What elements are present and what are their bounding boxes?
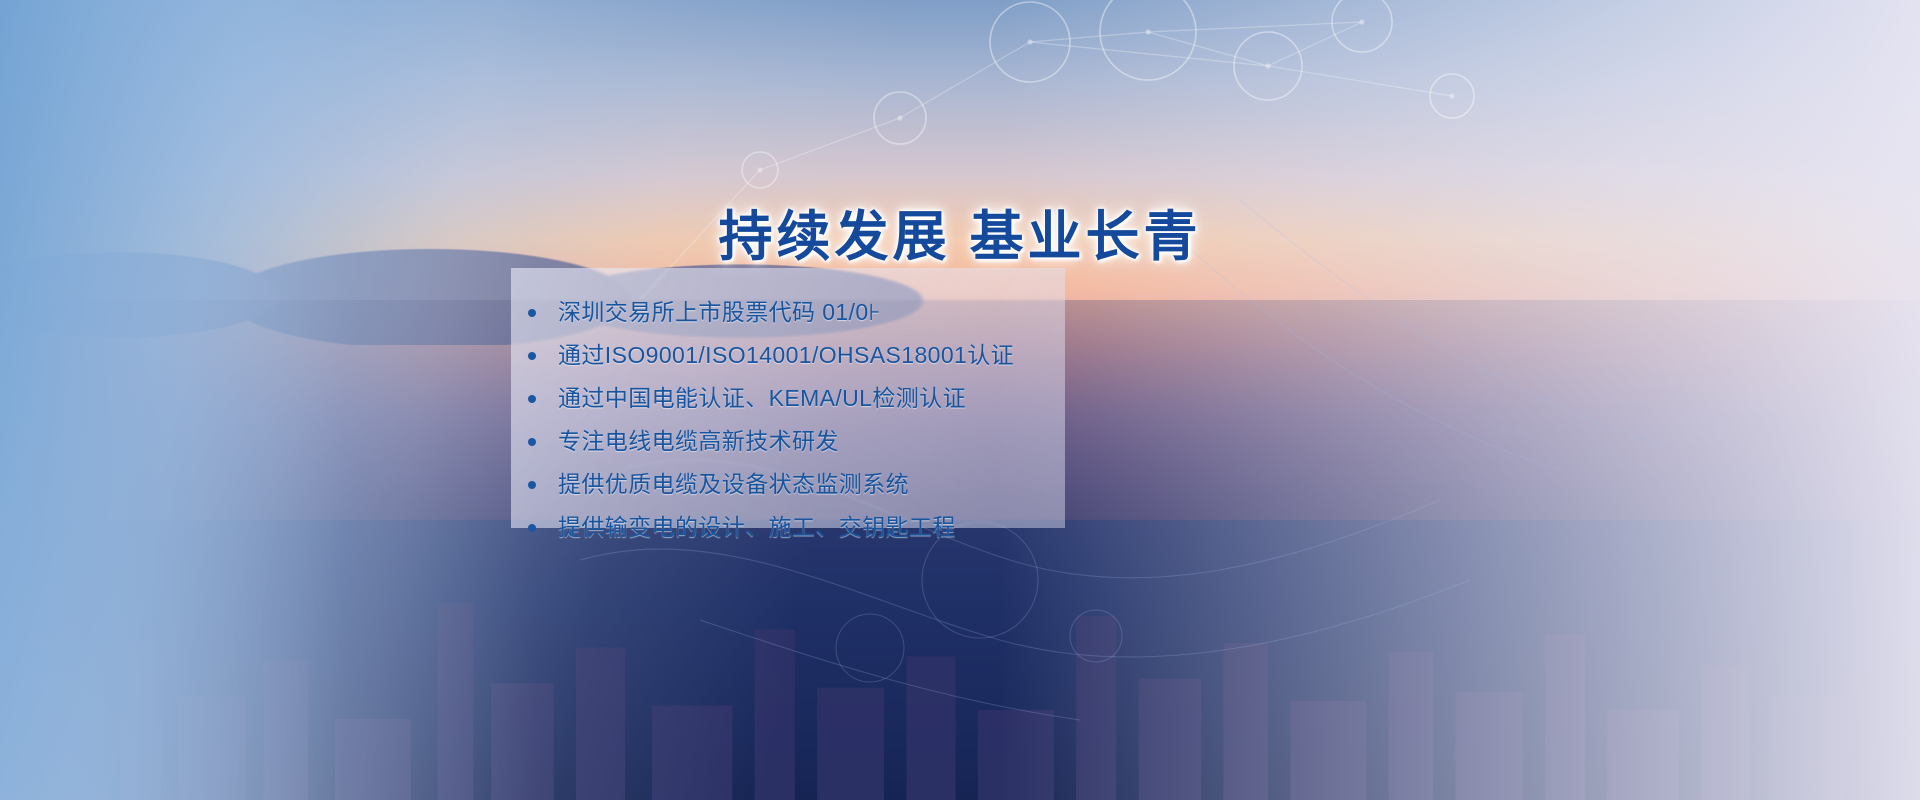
list-item: 提供输变电的设计、施工、交钥匙工程 xyxy=(520,511,1120,543)
list-item: 深圳交易所上市股票代码 01/0⊦ xyxy=(520,296,1120,328)
list-item: 通过中国电能认证、KEMA/UL检测认证 xyxy=(520,382,1120,414)
hero-banner: 持续发展 基业长青 深圳交易所上市股票代码 01/0⊦ 通过ISO9001/IS… xyxy=(0,0,1920,800)
list-item: 专注电线电缆高新技术研发 xyxy=(520,425,1120,457)
highlights-list: 深圳交易所上市股票代码 01/0⊦ 通过ISO9001/ISO14001/OHS… xyxy=(520,296,1120,554)
list-item: 通过ISO9001/ISO14001/OHSAS18001认证 xyxy=(520,339,1120,371)
page-title: 持续发展 基业长青 xyxy=(0,192,1920,271)
list-item: 提供优质电缆及设备状态监测系统 xyxy=(520,468,1120,500)
